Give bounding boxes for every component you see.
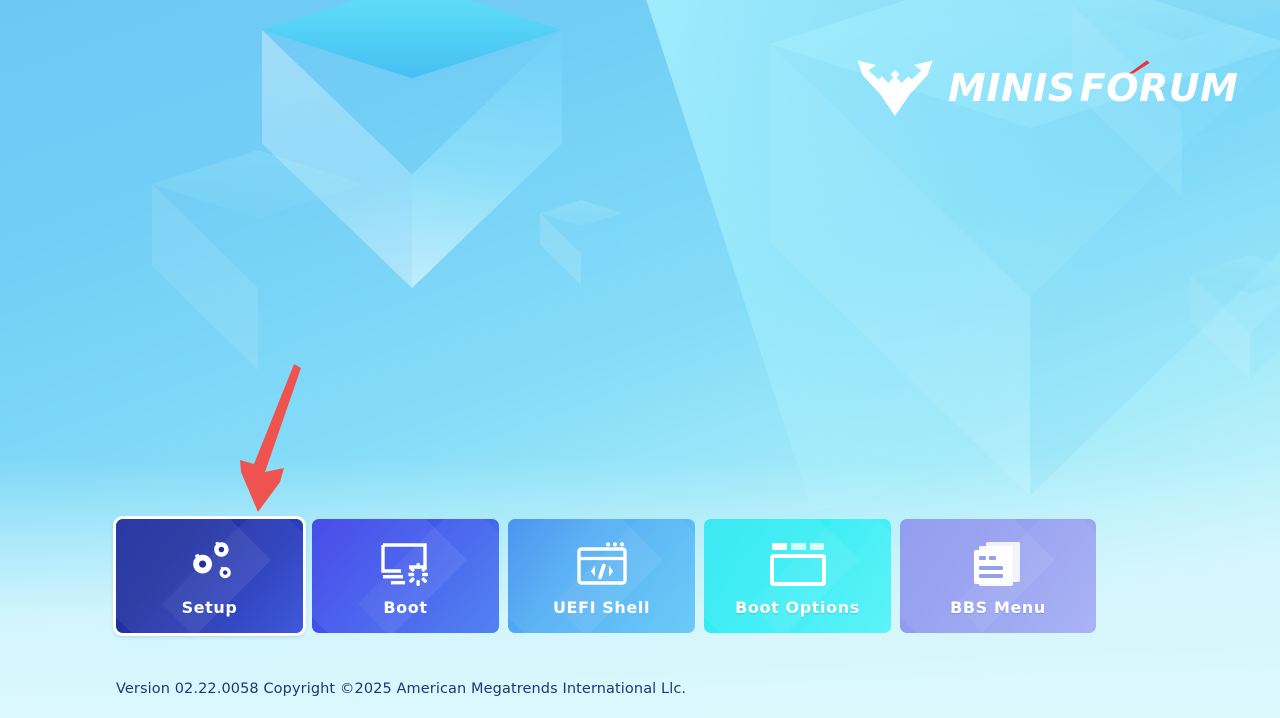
cube-right-face <box>258 184 364 370</box>
cube-top-face <box>770 0 1280 260</box>
gears-icon <box>182 538 238 590</box>
code-window-icon <box>575 538 629 590</box>
wordmark-forum: FORUM <box>1080 69 1239 107</box>
cube-left-face <box>262 30 412 288</box>
cube-left-face <box>152 184 258 370</box>
cube-top-face <box>540 200 622 247</box>
stacked-documents-icon <box>972 538 1024 590</box>
uefi-shell-tile-label: UEFI Shell <box>553 600 650 616</box>
cube-top-face <box>152 150 364 272</box>
boot-options-tile-label: Boot Options <box>735 600 860 616</box>
monitor-loading-icon <box>379 538 433 590</box>
minisforum-wordmark: MINIS FORUM <box>948 69 1238 107</box>
uefi-shell-tile[interactable]: UEFI Shell <box>508 519 695 633</box>
wordmark-minis: MINIS <box>948 69 1076 107</box>
tabbed-panel-icon <box>770 538 826 590</box>
bbs-menu-tile-label: BBS Menu <box>950 600 1046 616</box>
background-cube-tiny-center <box>540 200 622 290</box>
setup-tile[interactable]: Setup <box>116 519 303 633</box>
boot-options-tile[interactable]: Boot Options <box>704 519 891 633</box>
cube-top-face <box>262 0 562 154</box>
minisforum-logo: MINIS FORUM <box>856 58 1238 118</box>
cube-right-face <box>581 213 622 285</box>
red-arrow-pointing-down-left-icon <box>228 360 324 516</box>
cube-left-face <box>1190 274 1250 379</box>
bbs-menu-tile[interactable]: BBS Menu <box>900 519 1096 633</box>
boot-menu-tile-row: Setup <box>116 519 1096 633</box>
bios-boot-menu-screen: MINIS FORUM <box>0 0 1280 718</box>
background-cube-featured <box>262 0 562 312</box>
boot-tile[interactable]: Boot <box>312 519 499 633</box>
boot-tile-label: Boot <box>383 600 427 616</box>
minisforum-v-logo-icon <box>856 58 934 118</box>
version-copyright-text: Version 02.22.0058 Copyright ©2025 Ameri… <box>116 681 686 697</box>
background-cube-small-right <box>1190 255 1280 387</box>
cube-top-face <box>1190 255 1280 324</box>
setup-tile-label: Setup <box>182 600 238 616</box>
cube-right-face <box>412 30 562 288</box>
background-cube-faint-left <box>152 150 364 390</box>
cube-left-face <box>540 213 581 285</box>
cube-right-face <box>1250 274 1280 379</box>
